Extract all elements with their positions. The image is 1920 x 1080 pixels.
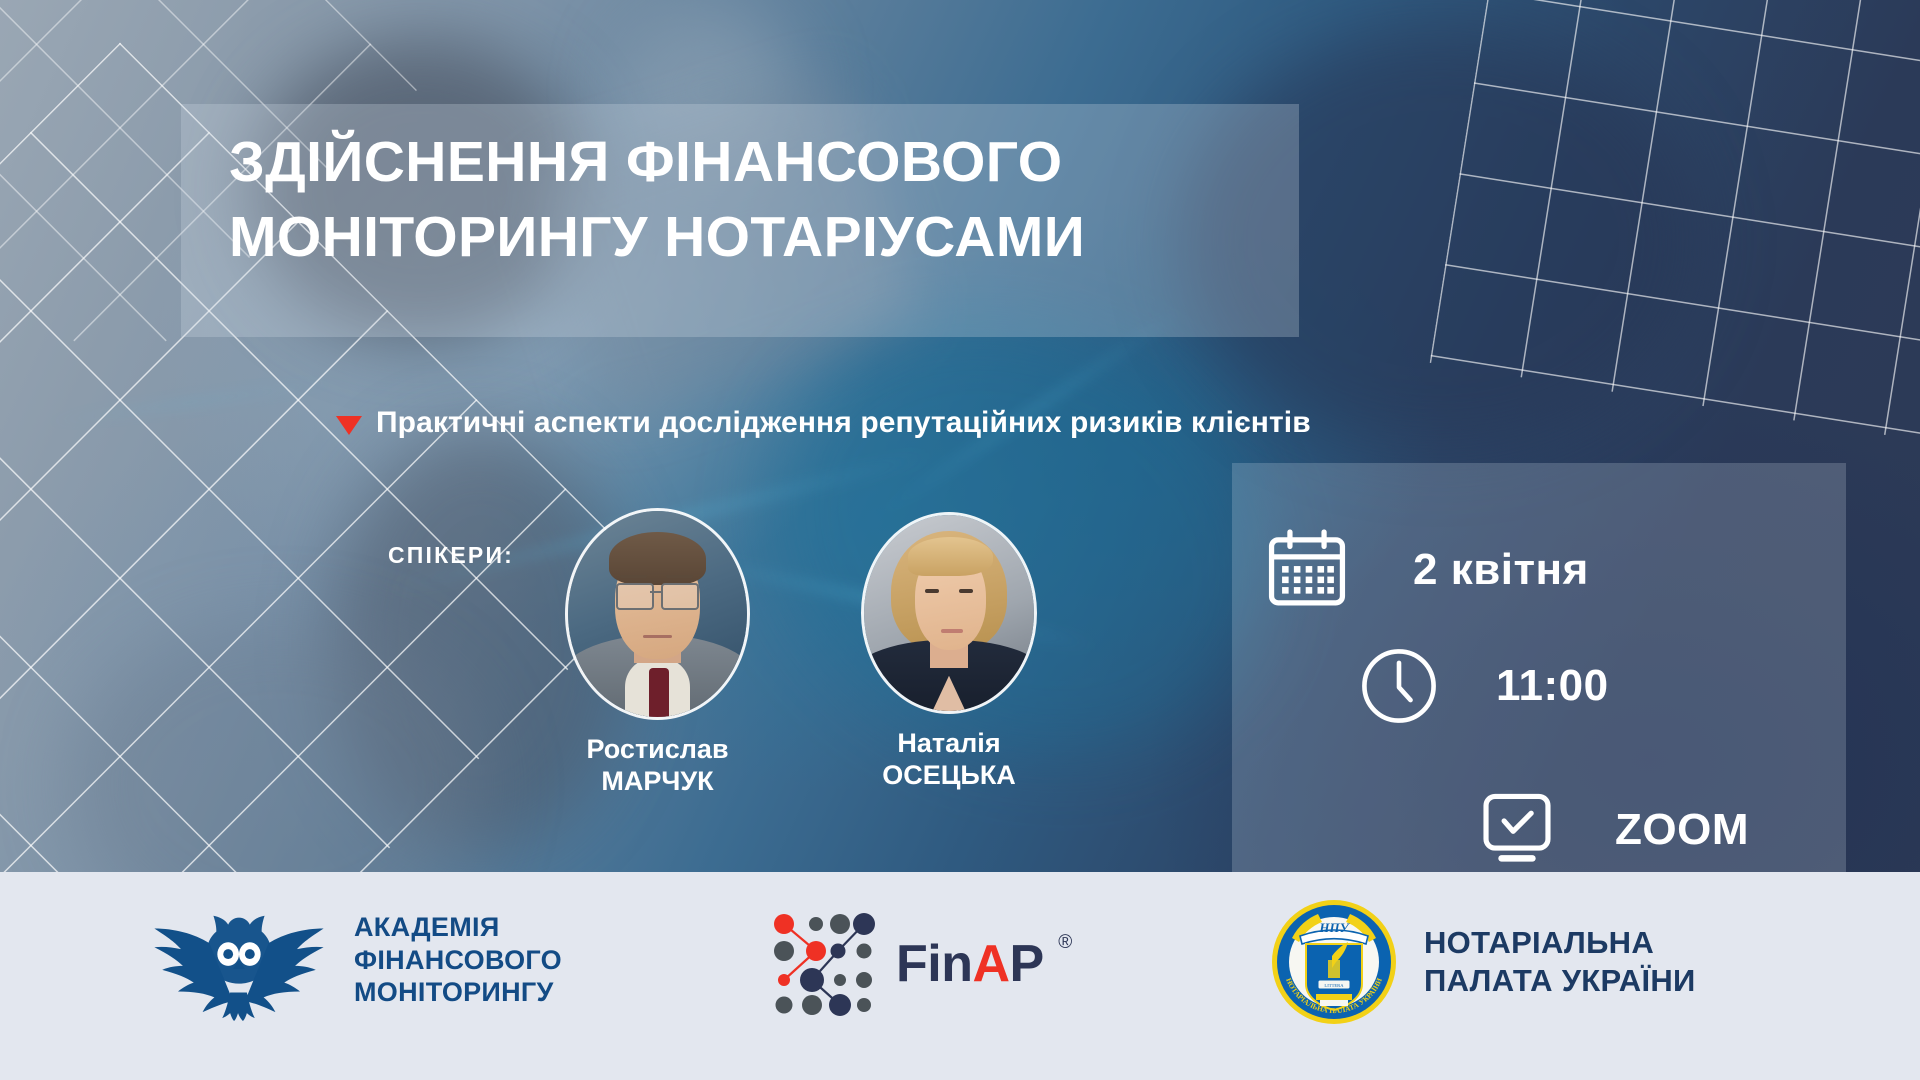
- logo-npu-label: НОТАРІАЛЬНА ПАЛАТА УКРАЇНИ: [1424, 924, 1696, 1000]
- svg-text:LITTERA: LITTERA: [1324, 983, 1344, 988]
- event-time-row: 11:00: [1358, 645, 1609, 727]
- speaker-card-2: Наталія ОСЕЦЬКА: [861, 512, 1037, 792]
- page-title: ЗДІЙСНЕННЯ ФІНАНСОВОГО МОНІТОРИНГУ НОТАР…: [229, 125, 1289, 275]
- speaker-last-name: ОСЕЦЬКА: [861, 760, 1037, 792]
- clock-icon: [1358, 645, 1440, 727]
- speaker-name: Ростислав МАРЧУК: [565, 734, 750, 798]
- speaker-last-name: МАРЧУК: [565, 766, 750, 798]
- logo-finap: FinAP®: [770, 910, 1044, 1018]
- logo-academy-financial-monitoring: АКАДЕМІЯ ФІНАНСОВОГО МОНІТОРИНГУ: [150, 898, 562, 1022]
- logo-line: ПАЛАТА УКРАЇНИ: [1424, 962, 1696, 1000]
- poster-canvas: ЗДІЙСНЕННЯ ФІНАНСОВОГО МОНІТОРИНГУ НОТАР…: [0, 0, 1920, 1080]
- avatar: [565, 508, 750, 720]
- speaker-first-name: Ростислав: [565, 734, 750, 766]
- finap-prefix: Fin: [896, 935, 972, 993]
- subtitle-row: Практичні аспекти дослідження репутаційн…: [336, 406, 1311, 440]
- svg-text:НПУ: НПУ: [1318, 920, 1350, 935]
- speakers-label: СПІКЕРИ:: [388, 542, 514, 569]
- title-line-1: ЗДІЙСНЕННЯ ФІНАНСОВОГО: [229, 125, 1289, 200]
- logo-line: ФІНАНСОВОГО: [354, 944, 562, 977]
- speaker-card-1: Ростислав МАРЧУК: [565, 508, 750, 798]
- registered-trademark-icon: ®: [1058, 932, 1072, 954]
- finap-dot-network-icon: [770, 910, 878, 1018]
- event-platform-row: ZOOM: [1475, 790, 1749, 870]
- male-speaker-portrait: [568, 511, 747, 717]
- logo-line: НОТАРІАЛЬНА: [1424, 924, 1696, 962]
- avatar: [861, 512, 1037, 714]
- npu-coat-of-arms-icon: НПУ LITTERA . НОТАРІАЛЬНА ПАЛАТА УКРАЇНИ: [1270, 898, 1398, 1026]
- logo-notarial-chamber-ukraine: НПУ LITTERA . НОТАРІАЛЬНА ПАЛАТА УКРАЇНИ…: [1270, 898, 1696, 1026]
- speaker-name: Наталія ОСЕЦЬКА: [861, 728, 1037, 792]
- calendar-icon: [1265, 528, 1349, 612]
- female-speaker-portrait: [864, 515, 1034, 711]
- finap-suffix: P: [1010, 935, 1044, 993]
- title-line-2: МОНІТОРИНГУ НОТАРІУСАМИ: [229, 200, 1289, 275]
- finap-accent: A: [972, 935, 1009, 993]
- event-platform-value: ZOOM: [1615, 805, 1749, 855]
- logo-finap-wordmark: FinAP®: [896, 934, 1044, 994]
- event-date-value: 2 квітня: [1413, 545, 1589, 595]
- subtitle-text: Практичні аспекти дослідження репутаційн…: [376, 406, 1311, 440]
- red-triangle-icon: [336, 416, 362, 435]
- monitor-check-icon: [1475, 790, 1559, 870]
- event-date-row: 2 квітня: [1265, 528, 1589, 612]
- event-time-value: 11:00: [1496, 661, 1609, 711]
- owl-emblem-icon: [150, 898, 328, 1022]
- logo-academy-label: АКАДЕМІЯ ФІНАНСОВОГО МОНІТОРИНГУ: [354, 911, 562, 1010]
- logo-line: АКАДЕМІЯ: [354, 911, 562, 944]
- speaker-first-name: Наталія: [861, 728, 1037, 760]
- logo-line: МОНІТОРИНГУ: [354, 976, 562, 1009]
